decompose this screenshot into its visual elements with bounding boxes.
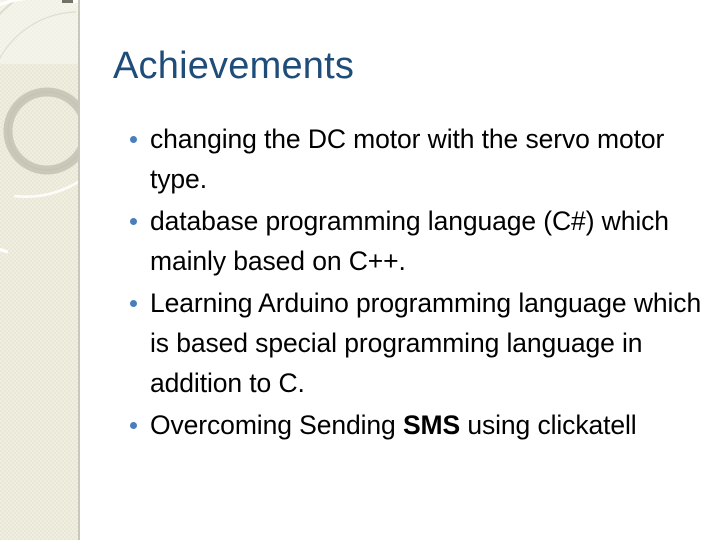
- decorative-graphic: [0, 0, 81, 540]
- list-item-label: database programming language (C#) which…: [150, 206, 669, 276]
- body-text: Overcoming Sending: [150, 410, 403, 440]
- list-item: Overcoming Sending SMS using clickatell: [126, 405, 706, 445]
- list-item: database programming language (C#) which…: [126, 201, 706, 281]
- list-item-label: changing the DC motor with the servo mot…: [150, 124, 664, 194]
- bullet-dot-icon: [130, 422, 137, 429]
- presentation-slide: Achievements changing the DC motor with …: [0, 0, 720, 540]
- band-base: [0, 0, 78, 540]
- top-artifact: [62, 0, 73, 3]
- emphasis-text: SMS: [403, 410, 460, 440]
- bullet-dot-icon: [130, 218, 137, 225]
- list-item-label: Learning Arduino programming language wh…: [150, 288, 701, 398]
- left-decorative-band: [0, 0, 81, 540]
- bullet-dot-icon: [130, 300, 137, 307]
- list-item-label: Overcoming Sending SMS using clickatell: [150, 410, 637, 440]
- list-item: Learning Arduino programming language wh…: [126, 283, 706, 403]
- list-item: changing the DC motor with the servo mot…: [126, 119, 706, 199]
- body-text: using clickatell: [460, 410, 637, 440]
- body-text: Learning Arduino programming language wh…: [150, 288, 701, 398]
- bullet-dot-icon: [130, 136, 137, 143]
- band-top-panel: [0, 0, 78, 64]
- body-text: database programming language (C#) which…: [150, 206, 669, 276]
- body-text: changing the DC motor with the servo mot…: [150, 124, 664, 194]
- page-title: Achievements: [113, 46, 693, 87]
- bullet-list: changing the DC motor with the servo mot…: [126, 119, 706, 447]
- band-edge-line: [78, 0, 80, 540]
